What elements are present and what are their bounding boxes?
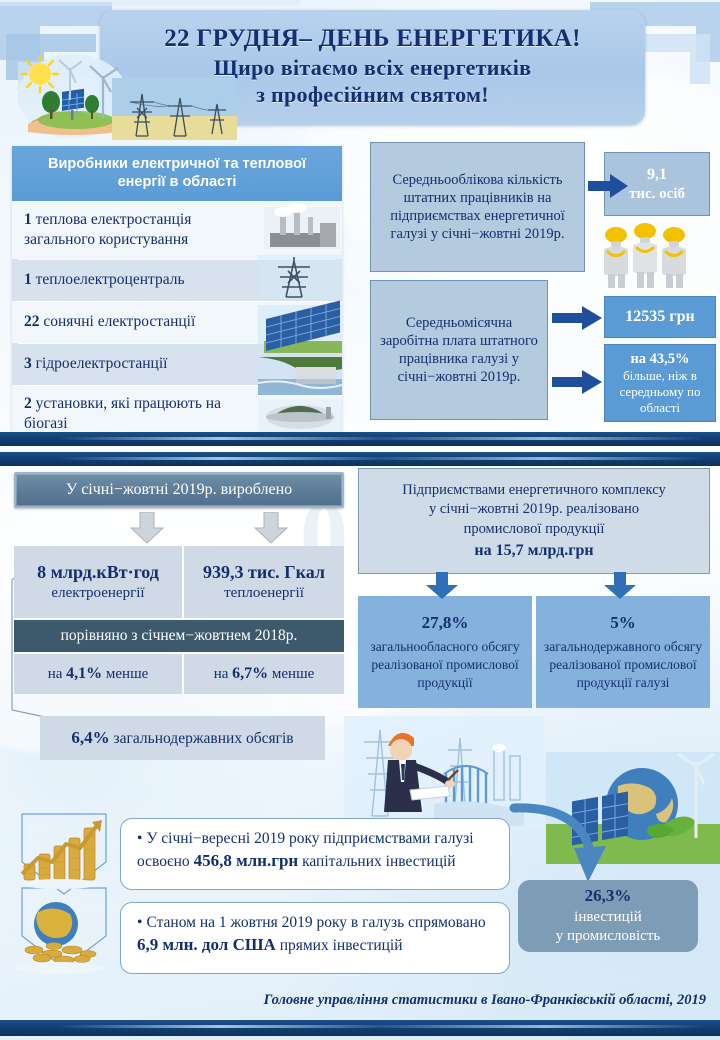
staff-question-text: Середньооблікова кількість штатних праці… — [377, 171, 578, 244]
heat-change-pct: 6,7% — [232, 665, 268, 682]
producer-count: 1 — [24, 271, 32, 288]
state-share-pct: 5% — [610, 612, 636, 635]
oblast-share-pct: 27,8% — [422, 612, 469, 635]
workers-group-image — [590, 218, 700, 295]
bullet-icon: • — [137, 830, 142, 847]
producer-label: теплова електростанція загального корист… — [24, 211, 191, 248]
salary-value-text: 12535 грн — [625, 307, 694, 327]
arrow-right-icon — [588, 172, 628, 205]
growth-chart-coins-image — [8, 812, 120, 987]
arrow-down-icon — [425, 572, 459, 605]
arrow-right-icon — [552, 368, 602, 401]
national-share-pct: 6,4% — [71, 728, 109, 747]
national-share-text: загальнодержавних обсягів — [110, 730, 294, 747]
divider-band — [0, 1020, 720, 1036]
sales-question-line3: промислової продукції — [464, 520, 605, 540]
electricity-label: електроенергії — [51, 584, 144, 604]
sales-question-box: Підприємствами енергетичного комплексу у… — [358, 468, 710, 574]
investment-share-box: 26,3% інвестицій у промисловість — [518, 880, 698, 952]
production-comparison-text: порівняно з січнем−жовтнем 2018р. — [61, 627, 298, 645]
list-item: 3 гідроелектростанції — [12, 343, 342, 385]
direct-investment-box: •Станом на 1 жовтня 2019 року в галузь с… — [120, 902, 510, 974]
header-line-1: 22 ГРУДНЯ– ДЕНЬ ЕНЕРГЕТИКА! — [164, 25, 581, 53]
electricity-value: 8 млрд.кВт·год — [37, 561, 159, 584]
arrow-down-icon — [603, 572, 637, 605]
electricity-change-prefix: на — [48, 666, 66, 682]
producer-count: 22 — [24, 313, 40, 330]
heat-produced-box: 939,3 тис. Гкал теплоенергії — [184, 546, 344, 618]
salary-question-box: Середньомісячна заробітна плата штатного… — [370, 280, 548, 420]
investment-share-line1: інвестицій — [574, 908, 642, 928]
source-note: Головне управління статистики в Івано-Фр… — [0, 992, 706, 1009]
electricity-change-suffix: менше — [102, 666, 148, 682]
header: 22 ГРУДНЯ– ДЕНЬ ЕНЕРГЕТИКА! Щиро вітаємо… — [0, 0, 720, 136]
electricity-produced-box: 8 млрд.кВт·год електроенергії — [14, 546, 182, 618]
salary-comparison-text: більше, ніж в середньому по області — [605, 368, 715, 417]
sales-question-line2: у січні−жовтні 2019р. реалізовано — [429, 500, 639, 520]
electricity-change-pct: 4,1% — [66, 665, 102, 682]
direct-investment-prefix: Станом на 1 жовтня 2019 року в галузь сп… — [146, 914, 485, 931]
salary-comparison-pct: на 43,5% — [630, 350, 689, 368]
oblast-share-text: загальнообласного обсягу реалізованої пр… — [364, 638, 526, 693]
staff-value-unit: тис. осіб — [629, 185, 685, 204]
capital-investment-box: •У січні−вересні 2019 року підприємствам… — [120, 818, 510, 890]
list-item: 1 теплоелектроцентраль — [12, 259, 342, 301]
capital-investment-value: 456,8 млн.грн — [194, 851, 299, 870]
arrow-down-icon — [130, 512, 164, 549]
heat-label: теплоенергії — [224, 584, 304, 604]
header-line-3: з професійним святом! — [256, 83, 489, 108]
header-line-2: Щиро вітаємо всіх енергетиків — [214, 56, 532, 81]
producer-label: установки, які працюють на біогазі — [24, 395, 221, 432]
arrow-right-icon — [552, 304, 602, 337]
producer-count: 1 — [24, 211, 32, 228]
list-item: 1 теплова електростанція загального кори… — [12, 201, 342, 259]
oblast-share-box: 27,8% загальнообласного обсягу реалізова… — [358, 596, 532, 708]
heat-change-prefix: на — [214, 666, 232, 682]
producer-label: сонячні електростанції — [40, 313, 196, 330]
producers-panel: Виробники електричної та теплової енергі… — [12, 146, 342, 443]
investment-share-line2: у промисловість — [556, 927, 660, 947]
investment-share-pct: 26,3% — [585, 885, 632, 907]
producer-count: 3 — [24, 355, 32, 372]
producer-label: теплоелектроцентраль — [32, 271, 185, 288]
electricity-change-box: на 4,1% менше — [14, 654, 182, 694]
list-item: 22 сонячні електростанції — [12, 301, 342, 343]
direct-investment-value: 6,9 млн. дол США — [137, 935, 276, 954]
sales-value: на 15,7 млрд.грн — [474, 540, 593, 562]
salary-comparison-box: на 43,5% більше, ніж в середньому по обл… — [604, 344, 716, 422]
state-share-text: загальнодержавного обсягу реалізованої п… — [542, 638, 704, 693]
direct-investment-suffix: прямих інвестицій — [276, 937, 403, 954]
national-share-box: 6,4% загальнодержавних обсягів — [40, 716, 325, 760]
divider-band — [0, 432, 720, 446]
production-header-bar: У січні−жовтні 2019р. вироблено — [14, 472, 344, 508]
bullet-icon: • — [137, 914, 142, 931]
production-comparison-bar: порівняно з січнем−жовтнем 2018р. — [14, 620, 344, 652]
producers-list: 1 теплова електростанція загального кори… — [12, 201, 342, 442]
heat-value: 939,3 тис. Гкал — [203, 561, 325, 584]
divider-band — [0, 452, 720, 466]
staff-question-box: Середньооблікова кількість штатних праці… — [370, 142, 585, 272]
salary-value-box: 12535 грн — [604, 296, 716, 338]
arrow-down-icon — [254, 512, 288, 549]
production-header-text: У січні−жовтні 2019р. вироблено — [66, 481, 292, 499]
producer-label: гідроелектростанції — [32, 355, 168, 372]
producers-panel-title: Виробники електричної та теплової енергі… — [12, 146, 342, 201]
power-lines-photo — [112, 78, 237, 140]
heat-change-suffix: менше — [268, 666, 314, 682]
sales-question-line1: Підприємствами енергетичного комплексу — [402, 481, 665, 501]
state-share-box: 5% загальнодержавного обсягу реалізовано… — [536, 596, 710, 708]
heat-change-box: на 6,7% менше — [184, 654, 344, 694]
staff-value-number: 9,1 — [647, 165, 667, 185]
capital-investment-suffix: капітальних інвестицій — [298, 853, 455, 870]
salary-question-text: Середньомісячна заробітна плата штатного… — [377, 314, 541, 387]
producer-count: 2 — [24, 395, 32, 412]
